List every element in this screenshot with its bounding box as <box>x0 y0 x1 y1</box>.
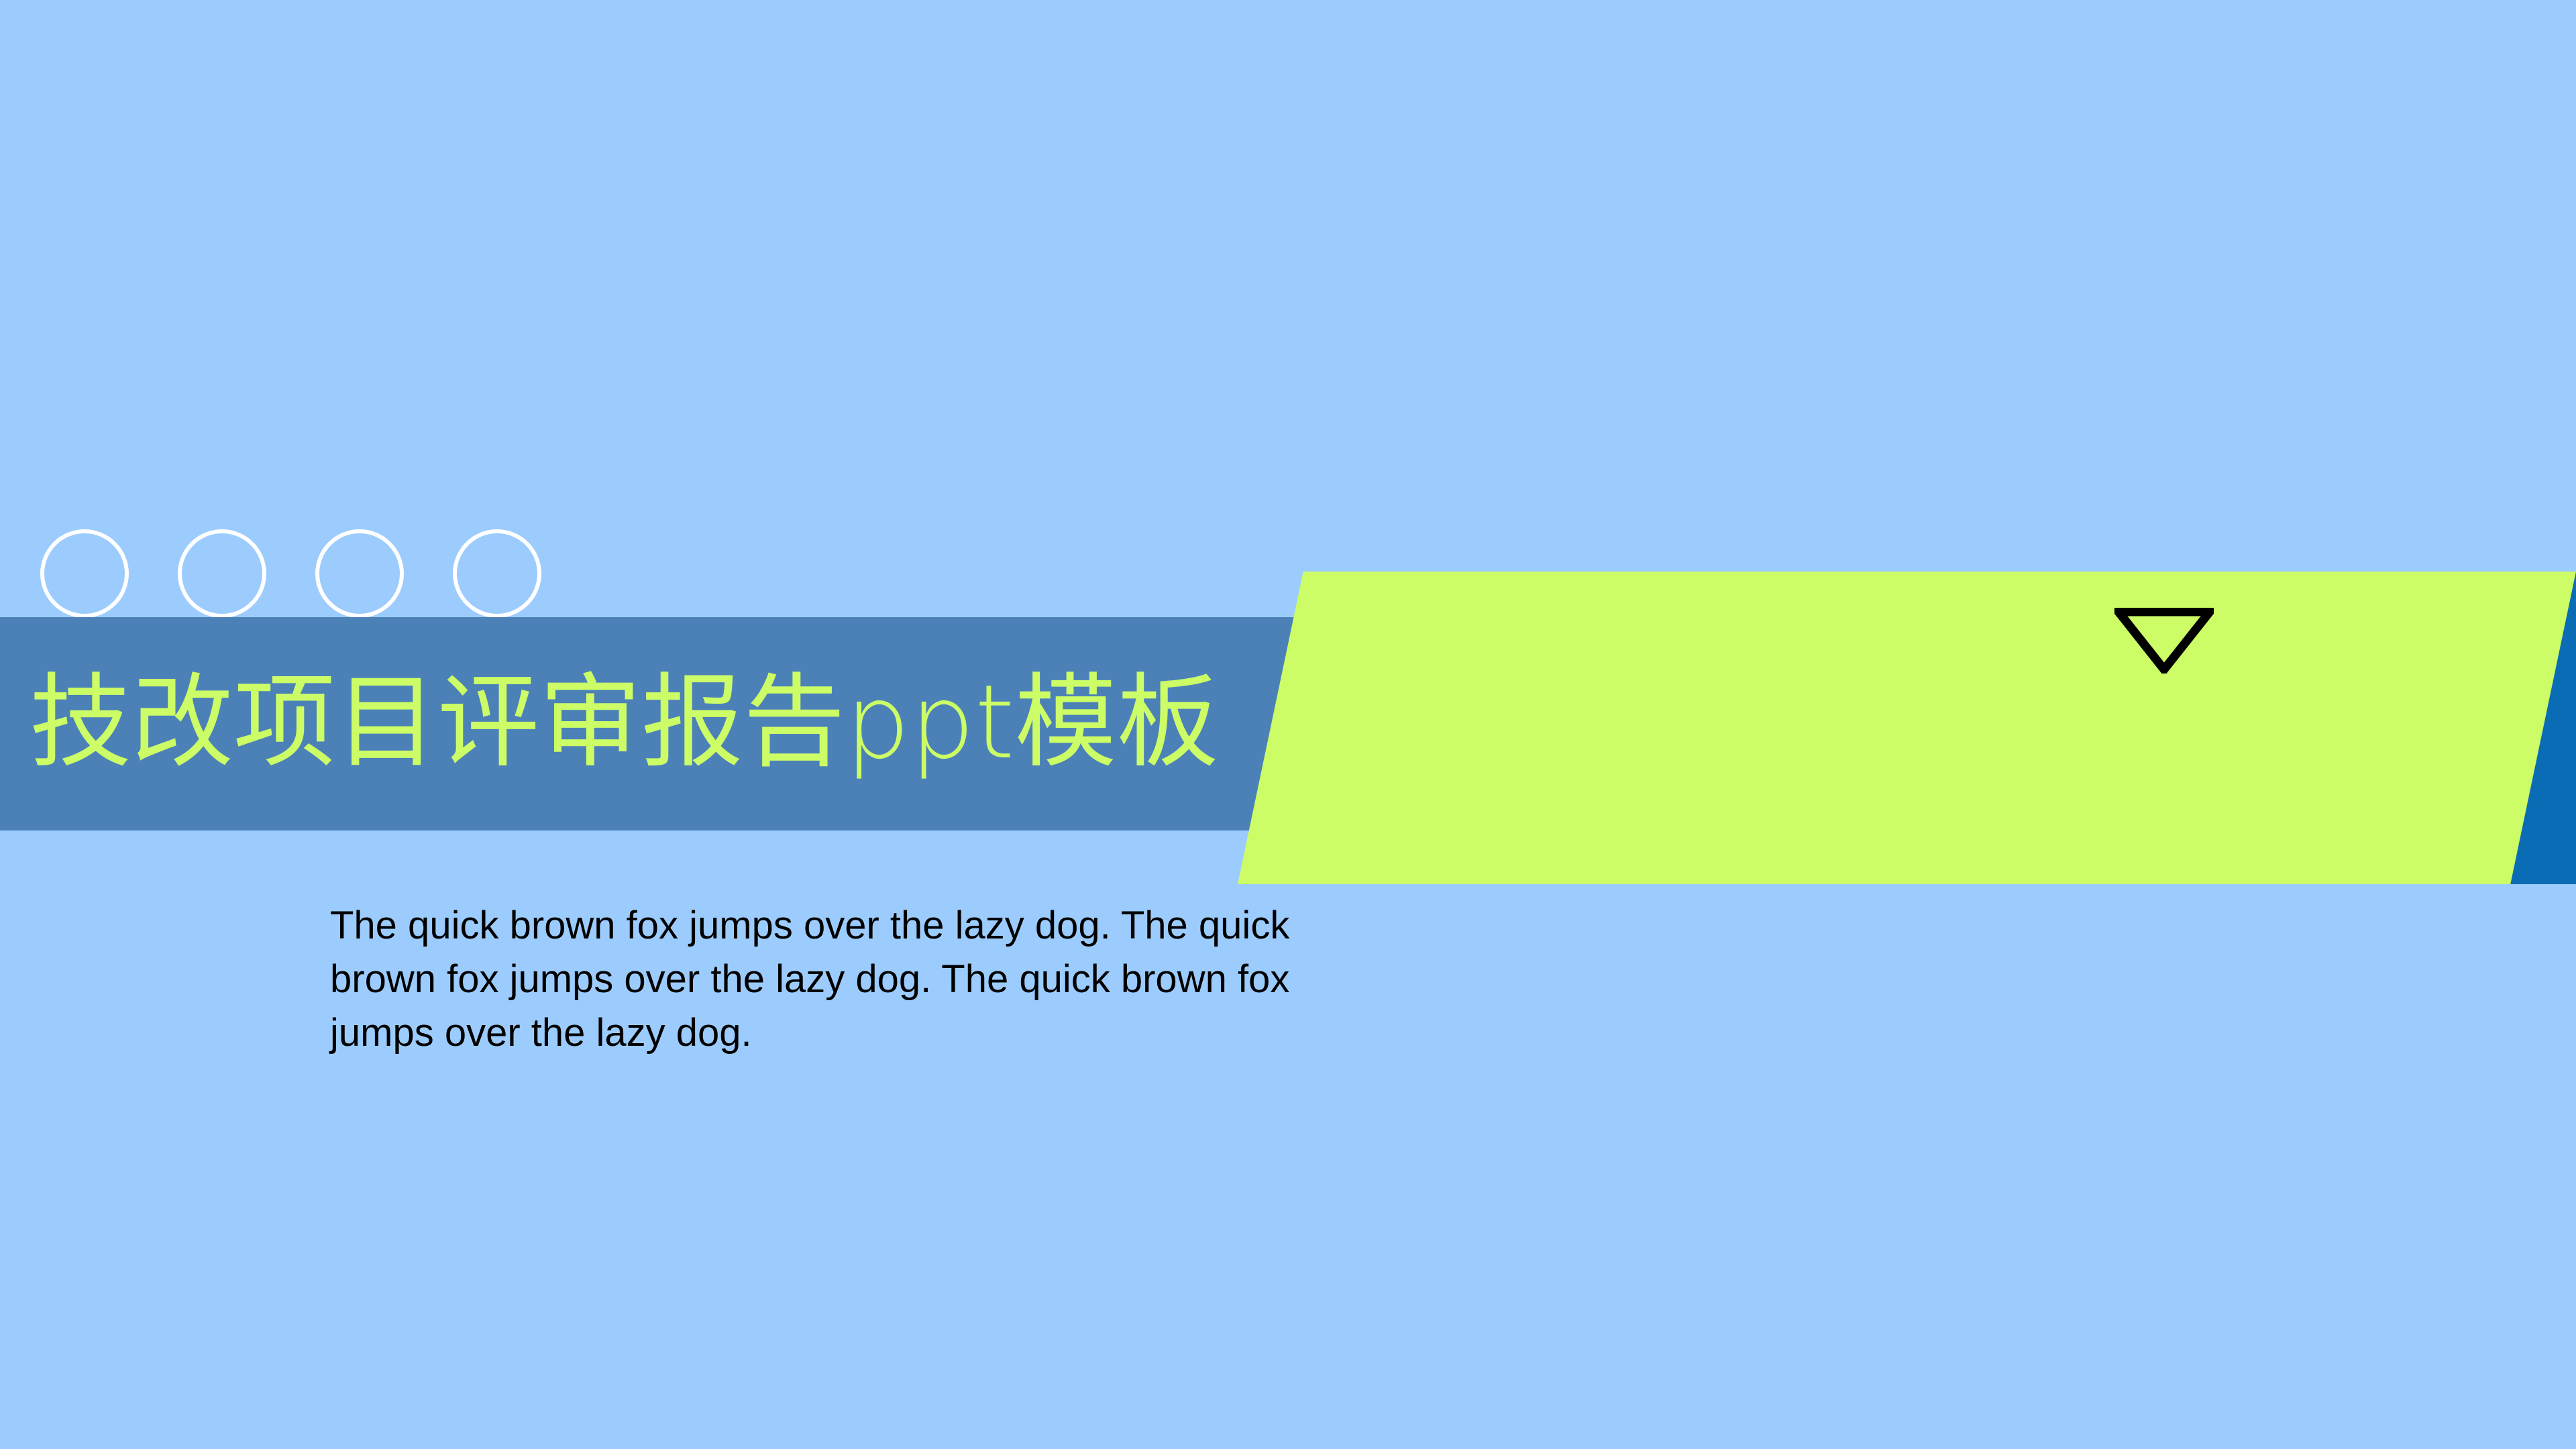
green-accent-slab <box>1238 572 2576 884</box>
presentation-slide: 技改项目评审报告ppt模板 The quick brown fox jumps … <box>0 0 2576 1449</box>
circle-outline-icon <box>178 529 266 618</box>
circle-outline-icon <box>453 529 541 618</box>
triangle-down-icon <box>2114 608 2214 674</box>
circle-outline-icon <box>40 529 129 618</box>
slide-title: 技改项目评审报告ppt模板 <box>30 625 1237 820</box>
circle-outline-icon <box>315 529 404 618</box>
decorative-circle-row <box>40 529 550 619</box>
body-paragraph: The quick brown fox jumps over the lazy … <box>330 899 1316 1060</box>
